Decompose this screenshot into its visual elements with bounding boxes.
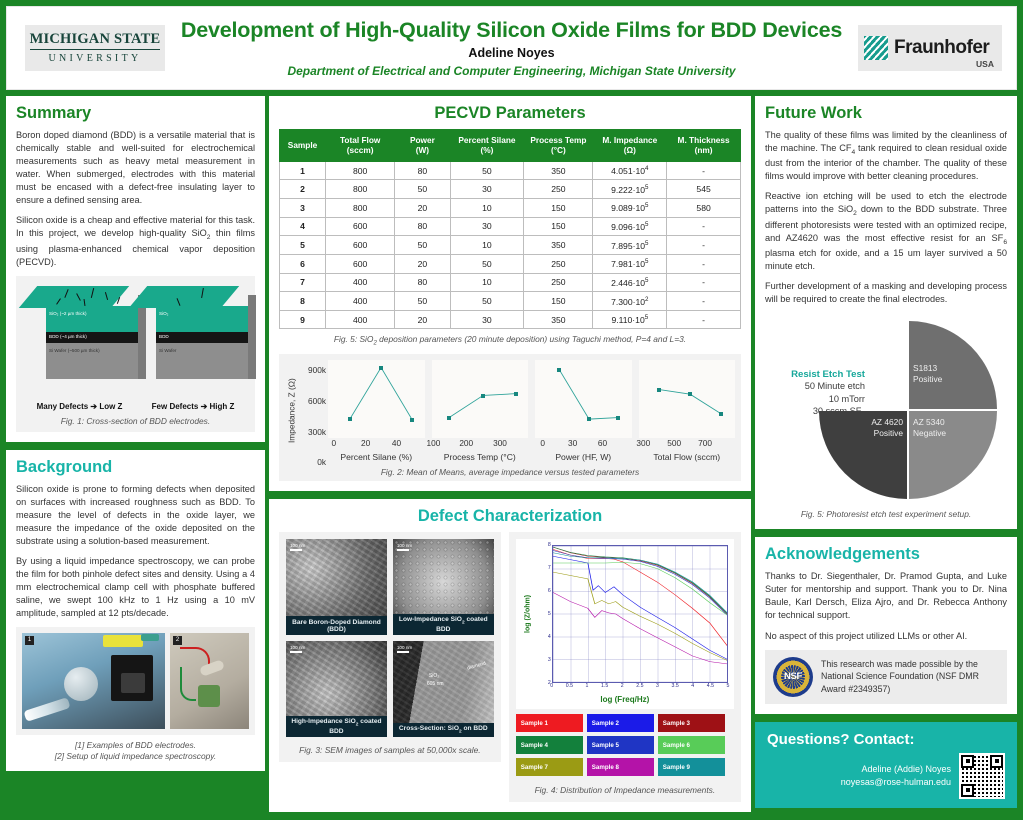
defect-characterization-card: Defect Characterization 100 nm Bare Boro… <box>269 499 751 812</box>
data-point <box>557 368 561 372</box>
mom-xtick: 100 <box>427 438 441 448</box>
table-row: 7 400 80 10 250 2.446·105 - <box>280 273 741 292</box>
data-point <box>379 366 383 370</box>
poster-header: MICHIGAN STATE UNIVERSITY Development of… <box>6 6 1017 90</box>
data-point <box>657 388 661 392</box>
middle-column: PECVD Parameters Sample Total Flow(sccm)… <box>269 96 751 820</box>
cell-total-flow: 800 <box>326 199 395 218</box>
f4-xtick: 2 <box>621 683 624 689</box>
f4-xtick: 4.5 <box>707 683 714 689</box>
f4-xtick: 5 <box>727 683 730 689</box>
cell-sample: 4 <box>280 217 326 236</box>
data-point <box>348 417 352 421</box>
nsf-funding-text: This research was made possible by the N… <box>821 658 999 695</box>
right-block-side-face <box>248 295 256 379</box>
left-layer-label-1: BDD (~4 µm thick) <box>49 334 87 339</box>
column-header-percent-silane: Percent Silane(%) <box>450 130 524 162</box>
cell-percent-silane: 10 <box>450 273 524 292</box>
data-point <box>481 394 485 398</box>
cell-sample: 5 <box>280 236 326 255</box>
cell-percent-silane: 50 <box>450 161 524 180</box>
figure-4-y-label: log (Z/ohm) <box>522 545 534 683</box>
pecvd-table-head: Sample Total Flow(sccm) Power(W) Percent… <box>280 130 741 162</box>
left-block-top-face <box>19 286 129 308</box>
cell-power: 20 <box>395 310 450 329</box>
mom-xtick: 0 <box>540 438 545 448</box>
cell-impedance: 7.981·105 <box>593 254 667 273</box>
mom-xtick: 0 <box>331 438 336 448</box>
cell-sample: 3 <box>280 199 326 218</box>
pie-label-s1813: S1813 Positive <box>913 363 942 385</box>
cell-impedance: 9.096·105 <box>593 217 667 236</box>
mom-panel-power: 0 30 60 Power (HF, W) <box>535 360 632 462</box>
cell-sample: 2 <box>280 180 326 199</box>
cell-percent-silane: 10 <box>450 236 524 255</box>
legend-item-sample-6[interactable]: Sample 6 <box>658 736 725 754</box>
figure-4-series-lines <box>553 546 727 682</box>
cell-power: 20 <box>395 199 450 218</box>
cell-thickness: 545 <box>667 180 741 199</box>
summary-card: Summary Boron doped diamond (BDD) is a v… <box>6 96 265 442</box>
cell-impedance: 4.051·104 <box>593 161 667 180</box>
pecvd-card: PECVD Parameters Sample Total Flow(sccm)… <box>269 96 751 491</box>
cell-sample: 6 <box>280 254 326 273</box>
pecvd-heading: PECVD Parameters <box>279 104 741 123</box>
figure-4-plot-row: log (Z/ohm) 2 3 4 5 6 7 8 <box>522 545 728 683</box>
cell-total-flow: 600 <box>326 236 395 255</box>
sem-caption: Low-Impedance SiO2 coated BDD <box>393 614 494 635</box>
figure-1-caption: Fig. 1: Cross-section of BDD electrodes. <box>22 416 249 426</box>
f4-xtick: 2.5 <box>636 683 643 689</box>
mom-ytick: 600k <box>308 396 326 406</box>
mom-x-axis-ticks-percent-silane: 0 20 40 <box>328 438 425 451</box>
cell-thickness: - <box>667 161 741 180</box>
data-point <box>514 392 518 396</box>
pie-label-az4620: AZ 4620 Positive <box>829 417 903 439</box>
right-block-sio2-front <box>156 306 248 332</box>
right-layer-label-1: BDD <box>159 334 169 339</box>
figure-1-bdd-cross-section: SiO₂ (~2 µm thick) BDD (~4 µm thick) Si … <box>16 276 255 432</box>
background-paragraph-2: By using a liquid impedance spectroscopy… <box>16 555 255 620</box>
f4-xtick: 1 <box>586 683 589 689</box>
mom-xtick: 200 <box>459 438 473 448</box>
fraunhofer-logo: Fraunhofer USA <box>858 25 1002 71</box>
figure-4-block: log (Z/ohm) 2 3 4 5 6 7 8 <box>509 532 741 802</box>
scale-bar-icon: 100 nm <box>290 543 305 551</box>
pie-chart-resist-etch: S1813 Positive AZ 5340 Negative AZ 4620 … <box>819 321 997 499</box>
photo-impedance-setup: 2 <box>170 633 249 729</box>
msu-logo-line1: MICHIGAN STATE <box>30 32 161 50</box>
summary-paragraph-1: Boron doped diamond (BDD) is a versatile… <box>16 129 255 207</box>
mom-xtick: 300 <box>493 438 507 448</box>
cell-percent-silane: 30 <box>450 217 524 236</box>
mom-x-axis-ticks-total-flow: 300 500 700 <box>639 438 736 451</box>
figure-3-caption: Fig. 3: SEM images of samples at 50,000x… <box>286 745 494 755</box>
background-photo-group: 1 2 <box>16 627 255 735</box>
pecvd-table-caption: Fig. 5: SiO2 deposition parameters (20 m… <box>279 334 741 347</box>
legend-item-sample-2[interactable]: Sample 2 <box>587 714 654 732</box>
mom-x-label-power: Power (HF, W) <box>535 452 632 462</box>
sem-annotation-sio2: SiO₂ <box>429 673 439 679</box>
sem-image-bare-bdd: 100 nm Bare Boron-Doped Diamond (BDD) <box>286 539 387 635</box>
cell-percent-silane: 10 <box>450 199 524 218</box>
cell-sample: 8 <box>280 292 326 311</box>
mom-plot-process-temp <box>432 360 529 438</box>
mom-xtick: 30 <box>568 438 577 448</box>
background-caption-line-2: [2] Setup of liquid impedance spectrosco… <box>16 751 255 761</box>
photo-bdd-electrodes: 1 <box>22 633 165 729</box>
mom-line-total-flow <box>639 360 736 438</box>
left-layer-label-2: Si Wafer (~500 µm thick) <box>49 348 100 353</box>
cell-impedance: 7.300·102 <box>593 292 667 311</box>
sample-holder <box>198 685 220 707</box>
pecvd-parameters-table: Sample Total Flow(sccm) Power(W) Percent… <box>279 129 741 329</box>
f4-ytick: 4 <box>548 634 551 640</box>
mom-panels: 0 20 40 Percent Silane (%) <box>328 360 735 462</box>
mom-xtick: 20 <box>361 438 370 448</box>
figure-4-plot-area <box>552 545 728 683</box>
legend-item-sample-3[interactable]: Sample 3 <box>658 714 725 732</box>
contact-card: Questions? Contact: Adeline (Addie) Noye… <box>755 722 1017 808</box>
mom-xtick: 300 <box>636 438 650 448</box>
mom-plot-power <box>535 360 632 438</box>
cell-thickness: - <box>667 292 741 311</box>
sem-image-cross-section: 100 nm diamond SiO₂ 605 nm Cross-Section… <box>393 641 494 737</box>
mom-x-axis-ticks-power: 0 30 60 <box>535 438 632 451</box>
mom-x-label-percent-silane: Percent Silane (%) <box>328 452 425 462</box>
f4-ytick: 7 <box>548 565 551 571</box>
figure-3-sem-images: 100 nm Bare Boron-Doped Diamond (BDD) 10… <box>279 532 501 762</box>
cell-process-temp: 150 <box>524 217 593 236</box>
column-header-impedance: M. Impedance(Ω) <box>593 130 667 162</box>
table-row: 3 800 20 10 150 9.089·105 580 <box>280 199 741 218</box>
cell-thickness: 580 <box>667 199 741 218</box>
qr-code-icon[interactable] <box>959 753 1005 799</box>
figure-4-x-ticks: 0 0.5 1 1.5 2 2.5 3 3.5 4 4.5 5 <box>552 683 728 694</box>
cell-power: 80 <box>395 217 450 236</box>
column-header-thickness: M. Thickness(nm) <box>667 130 741 162</box>
cell-total-flow: 800 <box>326 161 395 180</box>
figure-4-impedance-distribution: log (Z/ohm) 2 3 4 5 6 7 8 <box>509 532 741 802</box>
f4-ytick: 8 <box>548 542 551 548</box>
mom-panel-total-flow: 300 500 700 Total Flow (sccm) <box>639 360 736 462</box>
electrode-rod <box>23 698 70 723</box>
cell-process-temp: 250 <box>524 273 593 292</box>
f4-xtick: 0 <box>550 683 553 689</box>
f4-xtick: 3.5 <box>672 683 679 689</box>
cell-process-temp: 250 <box>524 180 593 199</box>
f4-ytick: 5 <box>548 611 551 617</box>
mom-line-power <box>535 360 632 438</box>
mom-ytick: 300k <box>308 427 326 437</box>
contact-row: Adeline (Addie) Noyes noyesas@rose-hulma… <box>767 753 1005 799</box>
mom-line-percent-silane <box>328 360 425 438</box>
table-row: 9 400 20 30 350 9.110·105 - <box>280 310 741 329</box>
cell-power: 80 <box>395 161 450 180</box>
sem-grid: 100 nm Bare Boron-Doped Diamond (BDD) 10… <box>286 539 494 737</box>
sem-caption: Cross-Section: SiO2 on BDD <box>393 723 494 737</box>
cell-sample: 9 <box>280 310 326 329</box>
qr-eye <box>961 755 974 768</box>
page-title: Development of High-Quality Silicon Oxid… <box>171 18 852 43</box>
qr-eye <box>961 784 974 797</box>
table-row: 4 600 80 30 150 9.096·105 - <box>280 217 741 236</box>
cell-sample: 7 <box>280 273 326 292</box>
cell-thickness: - <box>667 273 741 292</box>
mom-x-label-process-temp: Process Temp (°C) <box>432 452 529 462</box>
cell-percent-silane: 50 <box>450 254 524 273</box>
mom-y-axis-label: Impedance, Z (Ω) <box>285 360 298 462</box>
legend-item-sample-4[interactable]: Sample 4 <box>516 736 583 754</box>
scale-bar-icon: 100 nm <box>290 645 305 653</box>
future-work-paragraph-3: Further development of a masking and dev… <box>765 280 1007 306</box>
cell-impedance: 9.089·105 <box>593 199 667 218</box>
fraunhofer-wordmark: Fraunhofer <box>894 37 989 59</box>
figure-2-mean-of-means: Impedance, Z (Ω) 0k 300k 600k 900k <box>279 354 741 481</box>
figure-4-y-ticks: 2 3 4 5 6 7 8 <box>534 545 552 683</box>
figure-1-labels: Many Defects ➔ Low Z Few Defects ➔ High … <box>22 402 249 411</box>
f4-xtick: 4 <box>691 683 694 689</box>
left-block-sio2-front <box>46 306 138 332</box>
clamp-cell-window <box>121 673 145 693</box>
left-column: Summary Boron doped diamond (BDD) is a v… <box>6 96 265 779</box>
defect-figure-row: 100 nm Bare Boron-Doped Diamond (BDD) 10… <box>279 532 741 802</box>
left-layer-label-0: SiO₂ (~2 µm thick) <box>49 311 87 316</box>
summary-paragraph-2: Silicon oxide is a cheap and effective m… <box>16 214 255 268</box>
contact-heading: Questions? Contact: <box>767 731 1005 748</box>
future-work-card: Future Work The quality of these films w… <box>755 96 1017 529</box>
cell-thickness: - <box>667 217 741 236</box>
cell-percent-silane: 30 <box>450 180 524 199</box>
summary-heading: Summary <box>16 104 255 123</box>
cell-thickness: - <box>667 310 741 329</box>
green-wire-end <box>141 634 159 641</box>
legend-item-sample-8[interactable]: Sample 8 <box>587 758 654 776</box>
mom-ytick: 900k <box>308 365 326 375</box>
figure-5-caption: Fig. 5: Photoresist etch test experiment… <box>765 509 1007 519</box>
cell-total-flow: 800 <box>326 180 395 199</box>
data-point <box>719 412 723 416</box>
cell-power: 50 <box>395 236 450 255</box>
acknowledgements-paragraph-1: Thanks to Dr. Siegenthaler, Dr. Pramod G… <box>765 570 1007 622</box>
michigan-state-logo: MICHIGAN STATE UNIVERSITY <box>25 25 165 71</box>
mom-xtick: 60 <box>598 438 607 448</box>
figure-4-legend: Sample 1 Sample 2 Sample 3 Sample 4 Samp… <box>516 714 734 776</box>
f4-xtick: 1.5 <box>601 683 608 689</box>
mom-panel-process-temp: 100 200 300 Process Temp (°C) <box>432 360 529 462</box>
data-point <box>410 418 414 422</box>
nsf-funding-box: This research was made possible by the N… <box>765 650 1007 704</box>
cell-impedance: 9.222·105 <box>593 180 667 199</box>
cell-power: 50 <box>395 180 450 199</box>
mom-x-label-total-flow: Total Flow (sccm) <box>639 452 736 462</box>
background-card: Background Silicon oxide is prone to for… <box>6 450 265 772</box>
poster-root: MICHIGAN STATE UNIVERSITY Development of… <box>0 0 1023 768</box>
author-name: Adeline Noyes <box>171 46 852 60</box>
future-work-paragraph-2: Reactive ion etching will be used to etc… <box>765 190 1007 273</box>
table-row: 8 400 50 50 150 7.300·102 - <box>280 292 741 311</box>
qr-eye <box>990 755 1003 768</box>
mom-chart-group: Impedance, Z (Ω) 0k 300k 600k 900k <box>285 360 735 462</box>
data-point <box>587 417 591 421</box>
cell-impedance: 9.110·105 <box>593 310 667 329</box>
figure-2-caption: Fig. 2: Mean of Means, average impedance… <box>285 467 735 477</box>
scale-bar-icon: 100 nm <box>397 645 412 653</box>
mom-panel-percent-silane: 0 20 40 Percent Silane (%) <box>328 360 425 462</box>
cell-impedance: 7.895·105 <box>593 236 667 255</box>
cell-percent-silane: 30 <box>450 310 524 329</box>
future-work-heading: Future Work <box>765 104 1007 123</box>
affiliation: Department of Electrical and Computer En… <box>171 64 852 78</box>
cell-total-flow: 400 <box>326 310 395 329</box>
acknowledgements-heading: Acknowledgements <box>765 545 1007 564</box>
photo-badge-1: 1 <box>25 636 34 645</box>
green-wire <box>180 667 196 701</box>
msu-logo-line2: UNIVERSITY <box>49 54 142 64</box>
figure-1-label-right: Few Defects ➔ High Z <box>152 402 235 411</box>
legend-item-sample-7[interactable]: Sample 7 <box>516 758 583 776</box>
figure-4-plot-card: log (Z/ohm) 2 3 4 5 6 7 8 <box>516 539 734 709</box>
f4-ytick: 6 <box>548 588 551 594</box>
mom-x-axis-ticks-process-temp: 100 200 300 <box>432 438 529 451</box>
sem-annotation-thickness: 605 nm <box>427 681 444 687</box>
sem-image-low-impedance: 100 nm Low-Impedance SiO2 coated BDD <box>393 539 494 635</box>
cell-process-temp: 350 <box>524 161 593 180</box>
sem-image-high-impedance: 100 nm High-Impedance SiO2 coated BDD <box>286 641 387 737</box>
table-row: 1 800 80 50 350 4.051·104 - <box>280 161 741 180</box>
f4-xtick: 3 <box>656 683 659 689</box>
pie-label-az5340: AZ 5340 Negative <box>913 417 946 439</box>
background-paragraph-1: Silicon oxide is prone to forming defect… <box>16 483 255 548</box>
column-header-power: Power(W) <box>395 130 450 162</box>
sem-caption: High-Impedance SiO2 coated BDD <box>286 716 387 737</box>
scale-bar-icon: 100 nm <box>397 543 412 551</box>
mom-xtick: 500 <box>667 438 681 448</box>
table-row: 6 600 20 50 250 7.981·105 - <box>280 254 741 273</box>
fraunhofer-usa-label: USA <box>976 59 994 69</box>
future-work-paragraph-1: The quality of these films was limited b… <box>765 129 1007 183</box>
column-header-process-temp: Process Temp(°C) <box>524 130 593 162</box>
cell-process-temp: 150 <box>524 292 593 311</box>
right-block-bdd-front <box>156 332 248 343</box>
header-text-block: Development of High-Quality Silicon Oxid… <box>165 18 858 78</box>
right-layer-label-2: Si Wafer <box>159 348 176 353</box>
cell-process-temp: 250 <box>524 254 593 273</box>
contact-name: Adeline (Addie) Noyes <box>841 763 951 776</box>
mom-plot-percent-silane <box>328 360 425 438</box>
f4-ytick: 3 <box>548 657 551 663</box>
contact-email[interactable]: noyesas@rose-hulman.edu <box>841 776 951 789</box>
nsf-seal-icon <box>773 657 813 697</box>
acknowledgements-card: Acknowledgements Thanks to Dr. Siegentha… <box>755 537 1017 713</box>
sem-caption: Bare Boron-Doped Diamond (BDD) <box>286 616 387 635</box>
right-block-top-face <box>129 286 239 308</box>
legend-item-sample-1[interactable]: Sample 1 <box>516 714 583 732</box>
photo-badge-2: 2 <box>173 636 182 645</box>
electrode-disc <box>64 667 98 701</box>
right-layer-label-0: SiO₂ <box>159 311 168 316</box>
cell-total-flow: 400 <box>326 273 395 292</box>
data-point <box>616 416 620 420</box>
table-row: 2 800 50 30 250 9.222·105 545 <box>280 180 741 199</box>
cell-impedance: 2.446·105 <box>593 273 667 292</box>
figure-3-block: 100 nm Bare Boron-Doped Diamond (BDD) 10… <box>279 532 501 802</box>
cell-sample: 1 <box>280 161 326 180</box>
legend-item-sample-9[interactable]: Sample 9 <box>658 758 725 776</box>
background-heading: Background <box>16 458 255 477</box>
legend-item-sample-5[interactable]: Sample 5 <box>587 736 654 754</box>
contact-details: Adeline (Addie) Noyes noyesas@rose-hulma… <box>841 763 951 789</box>
defect-heading: Defect Characterization <box>279 507 741 526</box>
cell-total-flow: 600 <box>326 217 395 236</box>
table-row: 5 600 50 10 350 7.895·105 - <box>280 236 741 255</box>
cell-power: 20 <box>395 254 450 273</box>
data-point <box>447 416 451 420</box>
cell-process-temp: 150 <box>524 199 593 218</box>
figure-5-resist-etch-test: Resist Etch Test 50 Minute etch 10 mTorr… <box>765 313 1007 509</box>
cell-total-flow: 400 <box>326 292 395 311</box>
figure-1-drawing: SiO₂ (~2 µm thick) BDD (~4 µm thick) Si … <box>22 282 249 400</box>
mom-xtick: 700 <box>698 438 712 448</box>
cell-percent-silane: 50 <box>450 292 524 311</box>
figure-4-x-label: log (Freq/Hz) <box>522 695 728 704</box>
mom-y-axis-ticks: 0k 300k 600k 900k <box>298 360 328 462</box>
mom-plot-total-flow <box>639 360 736 438</box>
cell-thickness: - <box>667 236 741 255</box>
cell-process-temp: 350 <box>524 310 593 329</box>
mom-xtick: 40 <box>392 438 401 448</box>
column-header-sample: Sample <box>280 130 326 162</box>
yellow-connector <box>103 635 143 647</box>
mom-ytick: 0k <box>317 457 326 467</box>
cell-power: 50 <box>395 292 450 311</box>
acknowledgements-paragraph-2: No aspect of this project utilized LLMs … <box>765 630 1007 643</box>
cell-thickness: - <box>667 254 741 273</box>
fraunhofer-mark-icon <box>864 36 888 60</box>
mom-line-process-temp <box>432 360 529 438</box>
f4-xtick: 0.5 <box>566 683 573 689</box>
cell-total-flow: 600 <box>326 254 395 273</box>
cell-process-temp: 350 <box>524 236 593 255</box>
figure-4-caption: Fig. 4: Distribution of Impedance measur… <box>516 785 734 795</box>
data-point <box>688 392 692 396</box>
column-header-total-flow: Total Flow(sccm) <box>326 130 395 162</box>
figure-1-label-left: Many Defects ➔ Low Z <box>37 402 123 411</box>
pecvd-header-row: Sample Total Flow(sccm) Power(W) Percent… <box>280 130 741 162</box>
right-column: Future Work The quality of these films w… <box>755 96 1017 808</box>
background-caption-line-1: [1] Examples of BDD electrodes. <box>16 740 255 750</box>
cell-power: 80 <box>395 273 450 292</box>
pecvd-table-body: 1 800 80 50 350 4.051·104 - 2 800 50 30 … <box>280 161 741 329</box>
